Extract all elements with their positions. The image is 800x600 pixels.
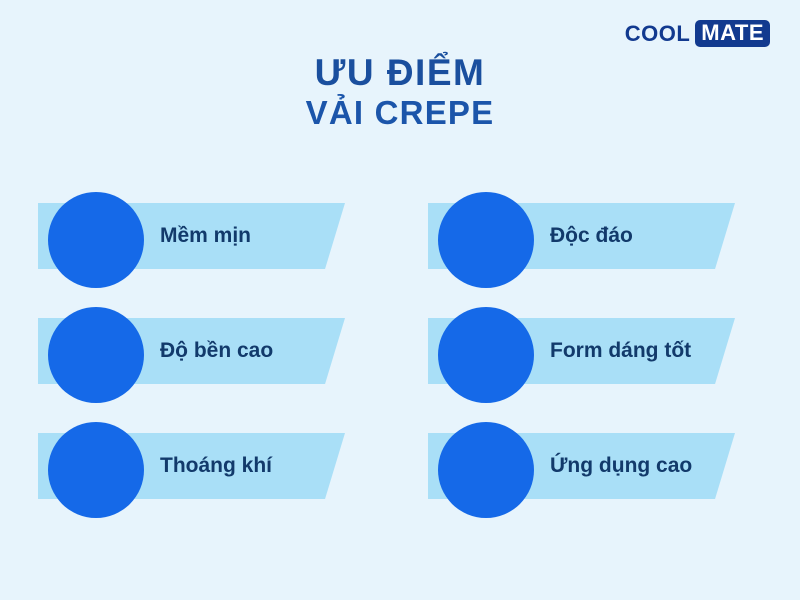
item-bullet-circle — [48, 192, 144, 288]
list-item: Thoáng khí — [38, 422, 383, 512]
item-label: Form dáng tốt — [550, 318, 691, 384]
list-item: Mềm mịn — [38, 192, 383, 282]
item-label: Mềm mịn — [160, 203, 251, 269]
item-label: Thoáng khí — [160, 433, 272, 499]
list-item: Ứng dụng cao — [428, 422, 773, 512]
list-item: Độ bền cao — [38, 307, 383, 397]
page-title: ƯU ĐIỂM VẢI CREPE — [0, 52, 800, 134]
coolmate-logo: COOL MATE — [625, 20, 770, 47]
title-line-primary: ƯU ĐIỂM — [0, 52, 800, 93]
list-item: Form dáng tốt — [428, 307, 773, 397]
item-bullet-circle — [438, 192, 534, 288]
list-item: Độc đáo — [428, 192, 773, 282]
item-bullet-circle — [48, 307, 144, 403]
item-bullet-circle — [438, 307, 534, 403]
title-line-secondary: VẢI CREPE — [0, 93, 800, 133]
benefits-list: Mềm mịn Độ bền cao Thoáng khí Độc đáo Fo… — [0, 192, 800, 522]
item-bullet-circle — [48, 422, 144, 518]
logo-text-cool: COOL — [625, 23, 691, 45]
logo-badge-mate: MATE — [695, 20, 770, 47]
item-label: Ứng dụng cao — [550, 433, 692, 499]
item-label: Độ bền cao — [160, 318, 273, 384]
infographic-page: COOL MATE ƯU ĐIỂM VẢI CREPE Mềm mịn Độ b… — [0, 0, 800, 600]
item-bullet-circle — [438, 422, 534, 518]
item-label: Độc đáo — [550, 203, 633, 269]
